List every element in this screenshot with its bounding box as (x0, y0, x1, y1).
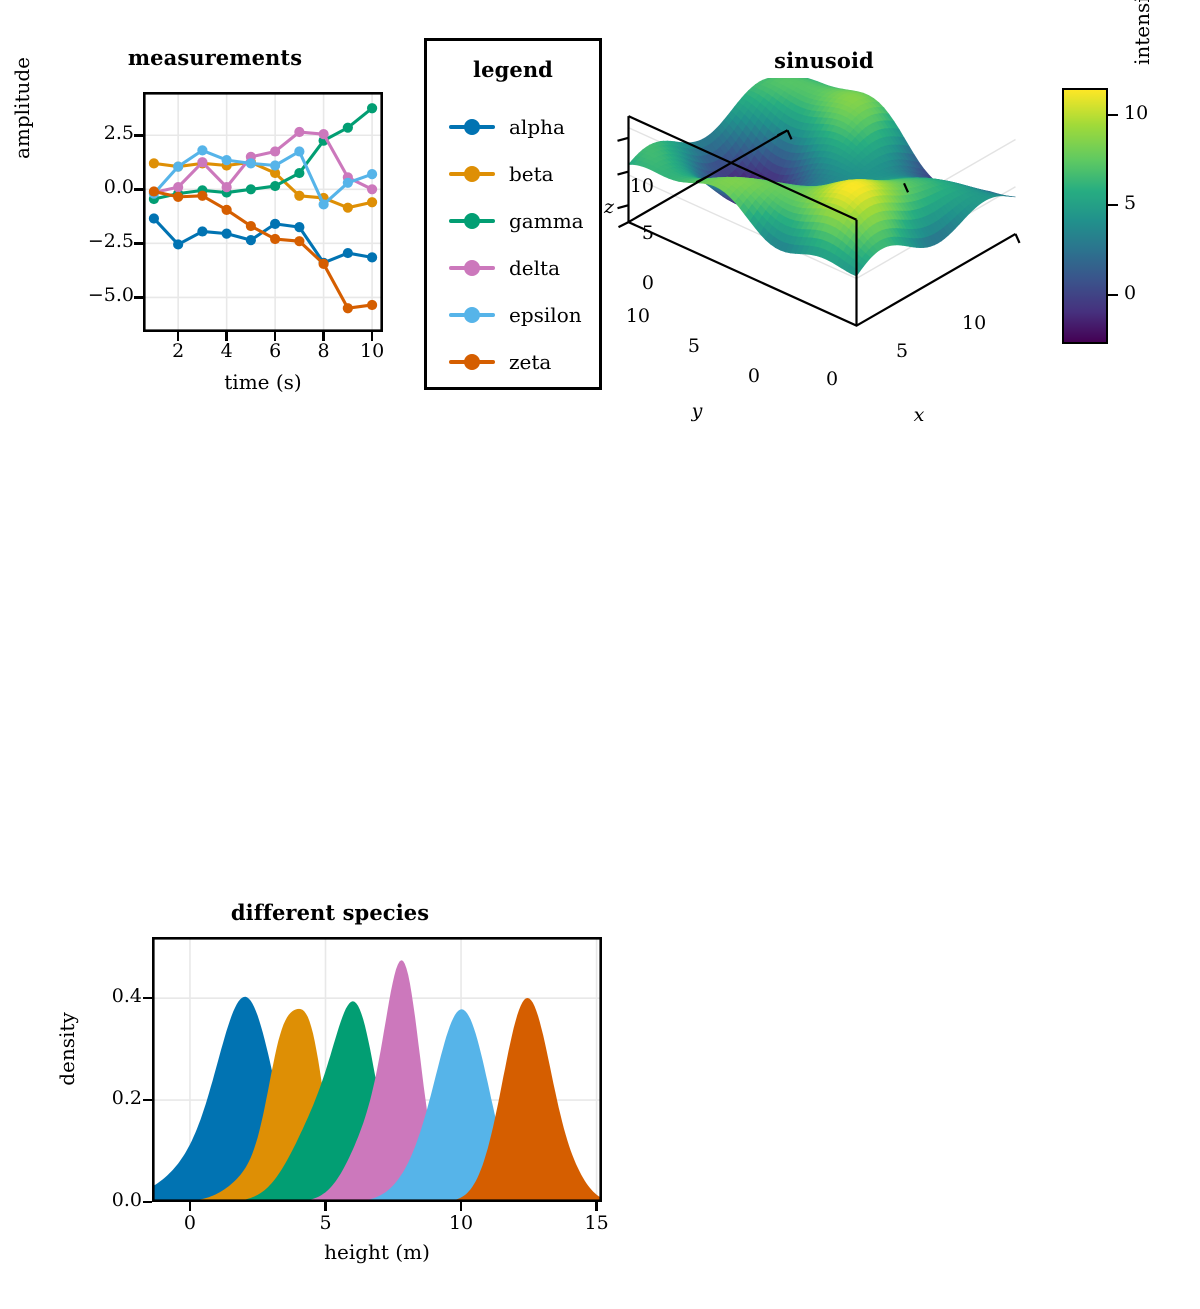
colorbar-tick-mark (1106, 294, 1118, 297)
tick-label: 10 (443, 1212, 479, 1234)
tick-label: z (594, 196, 624, 218)
legend-box: legend alphabetagammadeltaepsilonzeta (424, 38, 602, 390)
legend-marker-icon (449, 305, 495, 325)
tick-label: 0 (722, 365, 760, 387)
tick-label: −2.5 (58, 230, 134, 252)
tick-label: 10 (618, 175, 654, 197)
tick-label: 2 (164, 340, 192, 362)
tick-label: 5 (1124, 192, 1136, 214)
axis-tick-mark (134, 188, 143, 191)
chart-title-different-species: different species (60, 900, 600, 925)
legend-marker-icon (449, 117, 495, 137)
legend-label: zeta (495, 350, 551, 374)
axis-tick-mark (371, 332, 374, 341)
tick-label: 0.4 (60, 985, 142, 1007)
x-axis-label-time: time (s) (143, 370, 383, 394)
axis-tick-mark (143, 1201, 152, 1204)
tick-label: 2.5 (58, 122, 134, 144)
colorbar-panel: 0510 intensity (1044, 60, 1200, 390)
axis-tick-mark (274, 332, 277, 341)
axis-tick-mark (134, 134, 143, 137)
axis-tick-mark (134, 242, 143, 245)
legend-marker-icon (449, 258, 495, 278)
chart-title-measurements: measurements (20, 45, 410, 70)
tick-label: 4 (213, 340, 241, 362)
panel-sinusoid: sinusoid 105010500510zyx (604, 0, 1044, 420)
axis-tick-mark (595, 1202, 598, 1211)
legend-item-delta[interactable]: delta (427, 244, 599, 291)
colorbar-gradient (1062, 88, 1108, 344)
legend-item-epsilon[interactable]: epsilon (427, 291, 599, 338)
legend-item-beta[interactable]: beta (427, 150, 599, 197)
tick-label: 0 (172, 1212, 208, 1234)
line-chart-plot-area (143, 92, 383, 332)
tick-label: 5 (618, 222, 654, 244)
axis-tick-mark (225, 332, 228, 341)
tick-label: 5 (896, 340, 934, 362)
tick-label: x (904, 404, 934, 426)
tick-label: 10 (358, 340, 386, 362)
tick-label: y (682, 400, 712, 422)
legend-label: delta (495, 256, 560, 280)
axis-tick-mark (143, 1099, 152, 1102)
panel-stock-performance: stock performance gain ($) company 20−2a… (620, 440, 1200, 900)
legend-items: alphabetagammadeltaepsilonzeta (427, 103, 599, 385)
legend-label: beta (495, 162, 554, 186)
tick-label: 0.0 (60, 1189, 142, 1211)
tick-label: 10 (962, 312, 1000, 334)
tick-label: 5 (662, 335, 700, 357)
tick-label: 0 (826, 368, 864, 390)
legend-item-gamma[interactable]: gamma (427, 197, 599, 244)
tick-label: 10 (612, 305, 650, 327)
density-plot-area (152, 937, 602, 1202)
tick-label: 0 (1124, 282, 1136, 304)
axis-tick-mark (322, 332, 325, 341)
axis-tick-mark (189, 1202, 192, 1211)
legend-label: epsilon (495, 303, 582, 327)
tick-label: 0.0 (58, 176, 134, 198)
tick-label: −5.0 (58, 284, 134, 306)
legend-item-zeta[interactable]: zeta (427, 338, 599, 385)
legend-marker-icon (449, 164, 495, 184)
tick-label: 8 (310, 340, 338, 362)
figure-canvas: measurements amplitude time (s) 2468102.… (0, 0, 1200, 900)
legend-marker-icon (449, 211, 495, 231)
tick-label: 15 (579, 1212, 615, 1234)
tick-label: 5 (307, 1212, 343, 1234)
colorbar-label: intensity (1130, 0, 1154, 116)
panel-measurements: measurements amplitude time (s) 2468102.… (0, 0, 420, 420)
legend-title: legend (427, 57, 599, 82)
legend-panel: legend alphabetagammadeltaepsilonzeta (424, 38, 602, 390)
panel-different-species: different species density height (m) 051… (0, 440, 620, 900)
colorbar-tick-mark (1106, 114, 1118, 117)
axis-tick-mark (460, 1202, 463, 1211)
axis-tick-mark (324, 1202, 327, 1211)
axis-tick-mark (177, 332, 180, 341)
chart-title-sinusoid: sinusoid (604, 48, 1044, 73)
legend-marker-icon (449, 352, 495, 372)
colorbar-tick-mark (1106, 204, 1118, 207)
legend-item-alpha[interactable]: alpha (427, 103, 599, 150)
axis-tick-mark (143, 997, 152, 1000)
y-axis-label-amplitude: amplitude (10, 8, 34, 208)
x-axis-label-height: height (m) (152, 1240, 602, 1264)
legend-label: alpha (495, 115, 565, 139)
tick-label: 0.2 (60, 1087, 142, 1109)
tick-label: 6 (261, 340, 289, 362)
tick-label: 0 (618, 272, 654, 294)
axis-tick-mark (134, 296, 143, 299)
y-axis-label-density: density (55, 949, 79, 1149)
legend-label: gamma (495, 209, 584, 233)
